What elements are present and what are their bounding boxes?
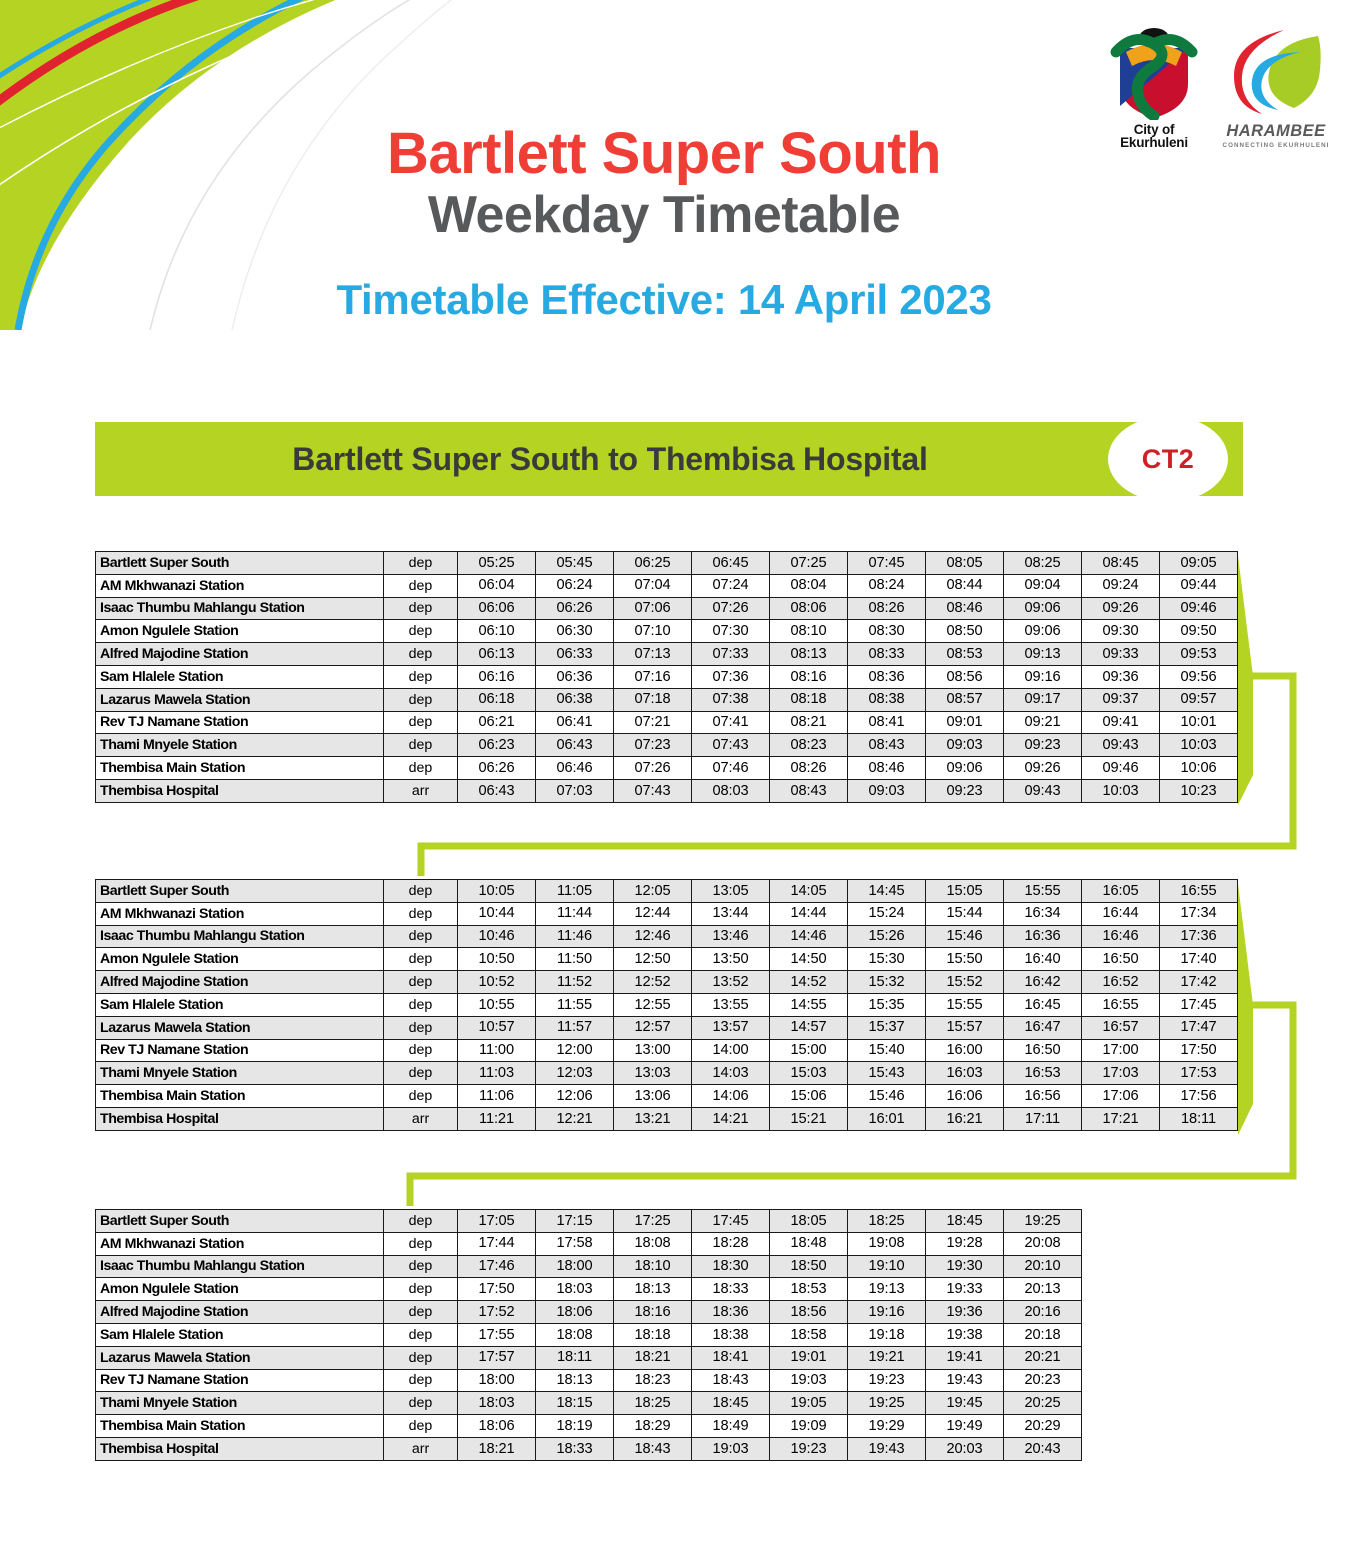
time-cell: 16:52 <box>1082 971 1160 994</box>
table-row: Rev TJ Namane Stationdep06:2106:4107:210… <box>96 711 1238 734</box>
time-cell: 09:06 <box>926 757 1004 780</box>
time-cell: 18:21 <box>614 1346 692 1369</box>
time-cell: 18:28 <box>692 1232 770 1255</box>
time-cell: 12:03 <box>536 1062 614 1085</box>
time-cell: 15:26 <box>848 925 926 948</box>
time-cell: 07:26 <box>614 757 692 780</box>
time-cell: 06:13 <box>458 643 536 666</box>
time-cell: 16:56 <box>1004 1085 1082 1108</box>
time-cell: 15:03 <box>770 1062 848 1085</box>
table-row: Sam Hlalele Stationdep06:1606:3607:1607:… <box>96 665 1238 688</box>
time-cell: 15:55 <box>926 993 1004 1016</box>
station-name-cell: Isaac Thumbu Mahlangu Station <box>96 1255 384 1278</box>
time-cell: 07:46 <box>692 757 770 780</box>
time-cell: 10:44 <box>458 902 536 925</box>
table-row: Thembisa Main Stationdep06:2606:4607:260… <box>96 757 1238 780</box>
time-cell: 19:30 <box>926 1255 1004 1278</box>
timetable-block-1: Bartlett Super Southdep05:2505:4506:2506… <box>95 551 1238 803</box>
time-cell: 08:38 <box>848 688 926 711</box>
table-row: Thembisa Main Stationdep11:0612:0613:061… <box>96 1085 1238 1108</box>
time-cell: 11:46 <box>536 925 614 948</box>
time-cell: 06:06 <box>458 597 536 620</box>
station-name-cell: Thembisa Hospital <box>96 1107 384 1130</box>
time-cell: 17:45 <box>1160 993 1238 1016</box>
time-cell: 06:45 <box>692 552 770 575</box>
time-cell: 18:36 <box>692 1301 770 1324</box>
time-cell: 16:21 <box>926 1107 1004 1130</box>
time-cell: 19:25 <box>848 1392 926 1415</box>
time-cell: 11:03 <box>458 1062 536 1085</box>
time-cell: 16:42 <box>1004 971 1082 994</box>
arrival-departure-cell: dep <box>384 948 458 971</box>
time-cell: 19:05 <box>770 1392 848 1415</box>
time-cell: 17:50 <box>458 1278 536 1301</box>
time-cell: 08:57 <box>926 688 1004 711</box>
time-cell: 15:40 <box>848 1039 926 1062</box>
time-cell: 19:36 <box>926 1301 1004 1324</box>
time-cell: 11:55 <box>536 993 614 1016</box>
time-cell: 09:26 <box>1004 757 1082 780</box>
arrival-departure-cell: arr <box>384 1437 458 1460</box>
time-cell: 17:34 <box>1160 902 1238 925</box>
time-cell: 08:26 <box>848 597 926 620</box>
time-cell: 07:23 <box>614 734 692 757</box>
time-cell: 19:18 <box>848 1323 926 1346</box>
time-cell: 14:55 <box>770 993 848 1016</box>
time-cell: 16:45 <box>1004 993 1082 1016</box>
time-cell: 19:33 <box>926 1278 1004 1301</box>
time-cell: 20:21 <box>1004 1346 1082 1369</box>
table-row: Amon Ngulele Stationdep10:5011:5012:5013… <box>96 948 1238 971</box>
station-name-cell: Amon Ngulele Station <box>96 1278 384 1301</box>
time-cell: 09:06 <box>1004 620 1082 643</box>
time-cell: 07:43 <box>614 779 692 802</box>
time-cell: 08:53 <box>926 643 1004 666</box>
time-cell: 09:44 <box>1160 574 1238 597</box>
time-cell: 06:24 <box>536 574 614 597</box>
time-cell: 18:13 <box>614 1278 692 1301</box>
time-cell: 16:03 <box>926 1062 1004 1085</box>
station-name-cell: Rev TJ Namane Station <box>96 1039 384 1062</box>
time-cell: 13:06 <box>614 1085 692 1108</box>
time-cell: 18:45 <box>692 1392 770 1415</box>
route-code-badge: CT2 <box>1115 422 1221 496</box>
time-cell: 15:37 <box>848 1016 926 1039</box>
arrival-departure-cell: dep <box>384 1346 458 1369</box>
time-cell: 07:26 <box>692 597 770 620</box>
time-cell: 18:50 <box>770 1255 848 1278</box>
time-cell: 08:33 <box>848 643 926 666</box>
time-cell: 18:05 <box>770 1210 848 1233</box>
time-cell: 18:08 <box>536 1323 614 1346</box>
time-cell: 13:55 <box>692 993 770 1016</box>
time-cell: 17:21 <box>1082 1107 1160 1130</box>
time-cell: 13:00 <box>614 1039 692 1062</box>
station-name-cell: AM Mkhwanazi Station <box>96 574 384 597</box>
time-cell: 16:57 <box>1082 1016 1160 1039</box>
time-cell: 09:21 <box>1004 711 1082 734</box>
time-cell: 13:57 <box>692 1016 770 1039</box>
time-cell: 07:43 <box>692 734 770 757</box>
time-cell: 09:03 <box>848 779 926 802</box>
time-cell: 14:05 <box>770 880 848 903</box>
time-cell: 18:25 <box>848 1210 926 1233</box>
time-cell: 09:41 <box>1082 711 1160 734</box>
time-cell: 18:29 <box>614 1415 692 1438</box>
time-cell: 18:13 <box>536 1369 614 1392</box>
time-cell: 17:58 <box>536 1232 614 1255</box>
time-cell: 14:06 <box>692 1085 770 1108</box>
arrival-departure-cell: dep <box>384 1016 458 1039</box>
time-cell: 12:46 <box>614 925 692 948</box>
time-cell: 17:03 <box>1082 1062 1160 1085</box>
time-cell: 18:33 <box>692 1278 770 1301</box>
arrival-departure-cell: dep <box>384 597 458 620</box>
time-cell: 12:05 <box>614 880 692 903</box>
time-cell: 20:03 <box>926 1437 1004 1460</box>
station-name-cell: Alfred Majodine Station <box>96 643 384 666</box>
station-name-cell: Thembisa Hospital <box>96 779 384 802</box>
time-cell: 18:15 <box>536 1392 614 1415</box>
time-cell: 11:21 <box>458 1107 536 1130</box>
table-row: Bartlett Super Southdep17:0517:1517:2517… <box>96 1210 1082 1233</box>
station-name-cell: Sam Hlalele Station <box>96 665 384 688</box>
harambee-emblem-icon <box>1222 22 1330 120</box>
time-cell: 10:06 <box>1160 757 1238 780</box>
time-cell: 17:42 <box>1160 971 1238 994</box>
time-cell: 17:52 <box>458 1301 536 1324</box>
arrival-departure-cell: dep <box>384 688 458 711</box>
time-cell: 11:06 <box>458 1085 536 1108</box>
station-name-cell: AM Mkhwanazi Station <box>96 902 384 925</box>
time-cell: 14:00 <box>692 1039 770 1062</box>
time-cell: 16:34 <box>1004 902 1082 925</box>
time-cell: 18:00 <box>458 1369 536 1392</box>
time-cell: 08:43 <box>770 779 848 802</box>
station-name-cell: Bartlett Super South <box>96 1210 384 1233</box>
station-name-cell: Amon Ngulele Station <box>96 948 384 971</box>
time-cell: 08:18 <box>770 688 848 711</box>
table-row: Amon Ngulele Stationdep06:1006:3007:1007… <box>96 620 1238 643</box>
time-cell: 18:33 <box>536 1437 614 1460</box>
time-cell: 13:52 <box>692 971 770 994</box>
time-cell: 08:43 <box>848 734 926 757</box>
arrival-departure-cell: dep <box>384 757 458 780</box>
table-row: Thembisa Hospitalarr18:2118:3318:4319:03… <box>96 1437 1082 1460</box>
time-cell: 06:26 <box>536 597 614 620</box>
table-row: Isaac Thumbu Mahlangu Stationdep06:0606:… <box>96 597 1238 620</box>
connector-wedge-2 <box>1238 884 1253 1135</box>
time-cell: 18:58 <box>770 1323 848 1346</box>
time-cell: 07:33 <box>692 643 770 666</box>
time-cell: 06:23 <box>458 734 536 757</box>
time-cell: 14:21 <box>692 1107 770 1130</box>
time-cell: 18:43 <box>614 1437 692 1460</box>
table-row: Thami Mnyele Stationdep06:2306:4307:2307… <box>96 734 1238 757</box>
time-cell: 08:13 <box>770 643 848 666</box>
station-name-cell: Alfred Majodine Station <box>96 1301 384 1324</box>
time-cell: 08:46 <box>926 597 1004 620</box>
time-cell: 15:46 <box>926 925 1004 948</box>
time-cell: 12:55 <box>614 993 692 1016</box>
page-title: Bartlett Super South <box>0 124 1358 184</box>
station-name-cell: Bartlett Super South <box>96 552 384 575</box>
time-cell: 18:25 <box>614 1392 692 1415</box>
time-cell: 18:49 <box>692 1415 770 1438</box>
time-cell: 15:43 <box>848 1062 926 1085</box>
arrival-departure-cell: dep <box>384 734 458 757</box>
station-name-cell: Alfred Majodine Station <box>96 971 384 994</box>
time-cell: 09:56 <box>1160 665 1238 688</box>
time-cell: 09:33 <box>1082 643 1160 666</box>
time-cell: 17:57 <box>458 1346 536 1369</box>
arrival-departure-cell: dep <box>384 1323 458 1346</box>
arrival-departure-cell: dep <box>384 711 458 734</box>
time-cell: 07:16 <box>614 665 692 688</box>
time-cell: 06:18 <box>458 688 536 711</box>
arrival-departure-cell: dep <box>384 993 458 1016</box>
time-cell: 19:13 <box>848 1278 926 1301</box>
time-cell: 13:03 <box>614 1062 692 1085</box>
time-cell: 17:06 <box>1082 1085 1160 1108</box>
arrival-departure-cell: dep <box>384 1255 458 1278</box>
time-cell: 17:45 <box>692 1210 770 1233</box>
table-row: Isaac Thumbu Mahlangu Stationdep17:4618:… <box>96 1255 1082 1278</box>
time-cell: 18:06 <box>458 1415 536 1438</box>
time-cell: 18:10 <box>614 1255 692 1278</box>
time-cell: 11:52 <box>536 971 614 994</box>
route-banner-title: Bartlett Super South to Thembisa Hospita… <box>95 422 1105 496</box>
time-cell: 09:53 <box>1160 643 1238 666</box>
time-cell: 20:25 <box>1004 1392 1082 1415</box>
arrival-departure-cell: dep <box>384 643 458 666</box>
arrival-departure-cell: dep <box>384 1369 458 1392</box>
table-row: Sam Hlalele Stationdep10:5511:5512:5513:… <box>96 993 1238 1016</box>
time-cell: 19:03 <box>692 1437 770 1460</box>
time-cell: 18:45 <box>926 1210 1004 1233</box>
time-cell: 07:38 <box>692 688 770 711</box>
time-cell: 17:53 <box>1160 1062 1238 1085</box>
time-cell: 07:24 <box>692 574 770 597</box>
time-cell: 09:01 <box>926 711 1004 734</box>
arrival-departure-cell: dep <box>384 1278 458 1301</box>
time-cell: 06:26 <box>458 757 536 780</box>
time-cell: 17:05 <box>458 1210 536 1233</box>
time-cell: 07:36 <box>692 665 770 688</box>
time-cell: 12:06 <box>536 1085 614 1108</box>
time-cell: 09:37 <box>1082 688 1160 711</box>
time-cell: 08:21 <box>770 711 848 734</box>
time-cell: 09:23 <box>1004 734 1082 757</box>
station-name-cell: Sam Hlalele Station <box>96 993 384 1016</box>
time-cell: 09:46 <box>1082 757 1160 780</box>
station-name-cell: Thami Mnyele Station <box>96 1062 384 1085</box>
time-cell: 10:23 <box>1160 779 1238 802</box>
time-cell: 16:40 <box>1004 948 1082 971</box>
time-cell: 18:23 <box>614 1369 692 1392</box>
time-cell: 19:29 <box>848 1415 926 1438</box>
time-cell: 17:15 <box>536 1210 614 1233</box>
time-cell: 18:00 <box>536 1255 614 1278</box>
time-cell: 09:17 <box>1004 688 1082 711</box>
time-cell: 11:44 <box>536 902 614 925</box>
time-cell: 18:21 <box>458 1437 536 1460</box>
time-cell: 11:57 <box>536 1016 614 1039</box>
time-cell: 16:46 <box>1082 925 1160 948</box>
time-cell: 18:56 <box>770 1301 848 1324</box>
time-cell: 14:52 <box>770 971 848 994</box>
time-cell: 19:08 <box>848 1232 926 1255</box>
time-cell: 07:21 <box>614 711 692 734</box>
time-cell: 08:16 <box>770 665 848 688</box>
time-cell: 06:16 <box>458 665 536 688</box>
table-row: Thembisa Hospitalarr11:2112:2113:2114:21… <box>96 1107 1238 1130</box>
table-row: Rev TJ Namane Stationdep18:0018:1318:231… <box>96 1369 1082 1392</box>
time-cell: 07:13 <box>614 643 692 666</box>
table-row: Lazarus Mawela Stationdep06:1806:3807:18… <box>96 688 1238 711</box>
table-row: Bartlett Super Southdep05:2505:4506:2506… <box>96 552 1238 575</box>
time-cell: 05:45 <box>536 552 614 575</box>
time-cell: 20:43 <box>1004 1437 1082 1460</box>
table-3-body: Bartlett Super Southdep17:0517:1517:2517… <box>96 1210 1082 1461</box>
time-cell: 16:05 <box>1082 880 1160 903</box>
arrival-departure-cell: dep <box>384 1301 458 1324</box>
time-cell: 17:55 <box>458 1323 536 1346</box>
arrival-departure-cell: dep <box>384 665 458 688</box>
table-row: Amon Ngulele Stationdep17:5018:0318:1318… <box>96 1278 1082 1301</box>
time-cell: 08:05 <box>926 552 1004 575</box>
time-cell: 12:50 <box>614 948 692 971</box>
station-name-cell: Sam Hlalele Station <box>96 1323 384 1346</box>
table-row: Lazarus Mawela Stationdep10:5711:5712:57… <box>96 1016 1238 1039</box>
table-row: AM Mkhwanazi Stationdep17:4417:5818:0818… <box>96 1232 1082 1255</box>
table-row: Alfred Majodine Stationdep17:5218:0618:1… <box>96 1301 1082 1324</box>
time-cell: 10:01 <box>1160 711 1238 734</box>
route-banner: Bartlett Super South to Thembisa Hospita… <box>95 422 1243 496</box>
station-name-cell: Thami Mnyele Station <box>96 1392 384 1415</box>
time-cell: 16:44 <box>1082 902 1160 925</box>
time-cell: 16:00 <box>926 1039 1004 1062</box>
time-cell: 16:36 <box>1004 925 1082 948</box>
time-cell: 12:44 <box>614 902 692 925</box>
time-cell: 16:55 <box>1082 993 1160 1016</box>
time-cell: 17:11 <box>1004 1107 1082 1130</box>
time-cell: 16:01 <box>848 1107 926 1130</box>
time-cell: 10:50 <box>458 948 536 971</box>
time-cell: 08:56 <box>926 665 1004 688</box>
time-cell: 12:52 <box>614 971 692 994</box>
time-cell: 17:50 <box>1160 1039 1238 1062</box>
time-cell: 19:23 <box>770 1437 848 1460</box>
arrival-departure-cell: dep <box>384 1415 458 1438</box>
time-cell: 06:36 <box>536 665 614 688</box>
time-cell: 08:26 <box>770 757 848 780</box>
city-of-ekurhuleni-emblem-icon <box>1104 22 1204 120</box>
time-cell: 18:03 <box>458 1392 536 1415</box>
table-row: Thami Mnyele Stationdep11:0312:0313:0314… <box>96 1062 1238 1085</box>
time-cell: 11:00 <box>458 1039 536 1062</box>
timetable-block-2: Bartlett Super Southdep10:0511:0512:0513… <box>95 879 1238 1131</box>
time-cell: 09:57 <box>1160 688 1238 711</box>
time-cell: 13:44 <box>692 902 770 925</box>
time-cell: 19:25 <box>1004 1210 1082 1233</box>
time-cell: 18:08 <box>614 1232 692 1255</box>
time-cell: 15:46 <box>848 1085 926 1108</box>
time-cell: 10:52 <box>458 971 536 994</box>
time-cell: 19:16 <box>848 1301 926 1324</box>
time-cell: 09:43 <box>1004 779 1082 802</box>
table-row: AM Mkhwanazi Stationdep06:0406:2407:0407… <box>96 574 1238 597</box>
time-cell: 16:55 <box>1160 880 1238 903</box>
time-cell: 07:25 <box>770 552 848 575</box>
table-row: Sam Hlalele Stationdep17:5518:0818:1818:… <box>96 1323 1082 1346</box>
arrival-departure-cell: dep <box>384 1232 458 1255</box>
arrival-departure-cell: dep <box>384 971 458 994</box>
time-cell: 15:32 <box>848 971 926 994</box>
table-row: Rev TJ Namane Stationdep11:0012:0013:001… <box>96 1039 1238 1062</box>
time-cell: 14:46 <box>770 925 848 948</box>
time-cell: 07:30 <box>692 620 770 643</box>
time-cell: 15:57 <box>926 1016 1004 1039</box>
time-cell: 17:46 <box>458 1255 536 1278</box>
time-cell: 19:41 <box>926 1346 1004 1369</box>
arrival-departure-cell: arr <box>384 779 458 802</box>
time-cell: 18:03 <box>536 1278 614 1301</box>
time-cell: 09:06 <box>1004 597 1082 620</box>
time-cell: 19:43 <box>848 1437 926 1460</box>
time-cell: 18:11 <box>1160 1107 1238 1130</box>
time-cell: 08:06 <box>770 597 848 620</box>
time-cell: 09:46 <box>1160 597 1238 620</box>
time-cell: 17:56 <box>1160 1085 1238 1108</box>
time-cell: 19:45 <box>926 1392 1004 1415</box>
station-name-cell: Isaac Thumbu Mahlangu Station <box>96 597 384 620</box>
time-cell: 07:18 <box>614 688 692 711</box>
time-cell: 06:46 <box>536 757 614 780</box>
time-cell: 09:50 <box>1160 620 1238 643</box>
connector-wedge-1 <box>1238 556 1253 805</box>
time-cell: 20:23 <box>1004 1369 1082 1392</box>
time-cell: 07:04 <box>614 574 692 597</box>
time-cell: 17:36 <box>1160 925 1238 948</box>
time-cell: 09:23 <box>926 779 1004 802</box>
time-cell: 07:10 <box>614 620 692 643</box>
time-cell: 19:38 <box>926 1323 1004 1346</box>
station-name-cell: Lazarus Mawela Station <box>96 688 384 711</box>
time-cell: 15:44 <box>926 902 1004 925</box>
time-cell: 15:00 <box>770 1039 848 1062</box>
station-name-cell: AM Mkhwanazi Station <box>96 1232 384 1255</box>
table-row: Thembisa Hospitalarr06:4307:0307:4308:03… <box>96 779 1238 802</box>
time-cell: 06:41 <box>536 711 614 734</box>
time-cell: 15:55 <box>1004 880 1082 903</box>
time-cell: 15:24 <box>848 902 926 925</box>
time-cell: 10:55 <box>458 993 536 1016</box>
time-cell: 13:05 <box>692 880 770 903</box>
time-cell: 19:43 <box>926 1369 1004 1392</box>
time-cell: 10:03 <box>1160 734 1238 757</box>
time-cell: 07:03 <box>536 779 614 802</box>
swoosh-cyan-arc-outer <box>0 0 460 118</box>
time-cell: 19:21 <box>848 1346 926 1369</box>
station-name-cell: Amon Ngulele Station <box>96 620 384 643</box>
time-cell: 08:04 <box>770 574 848 597</box>
table-row: Thembisa Main Stationdep18:0618:1918:291… <box>96 1415 1082 1438</box>
time-cell: 14:45 <box>848 880 926 903</box>
timetable-block-3: Bartlett Super Southdep17:0517:1517:2517… <box>95 1209 1082 1461</box>
station-name-cell: Thembisa Main Station <box>96 757 384 780</box>
time-cell: 09:03 <box>926 734 1004 757</box>
